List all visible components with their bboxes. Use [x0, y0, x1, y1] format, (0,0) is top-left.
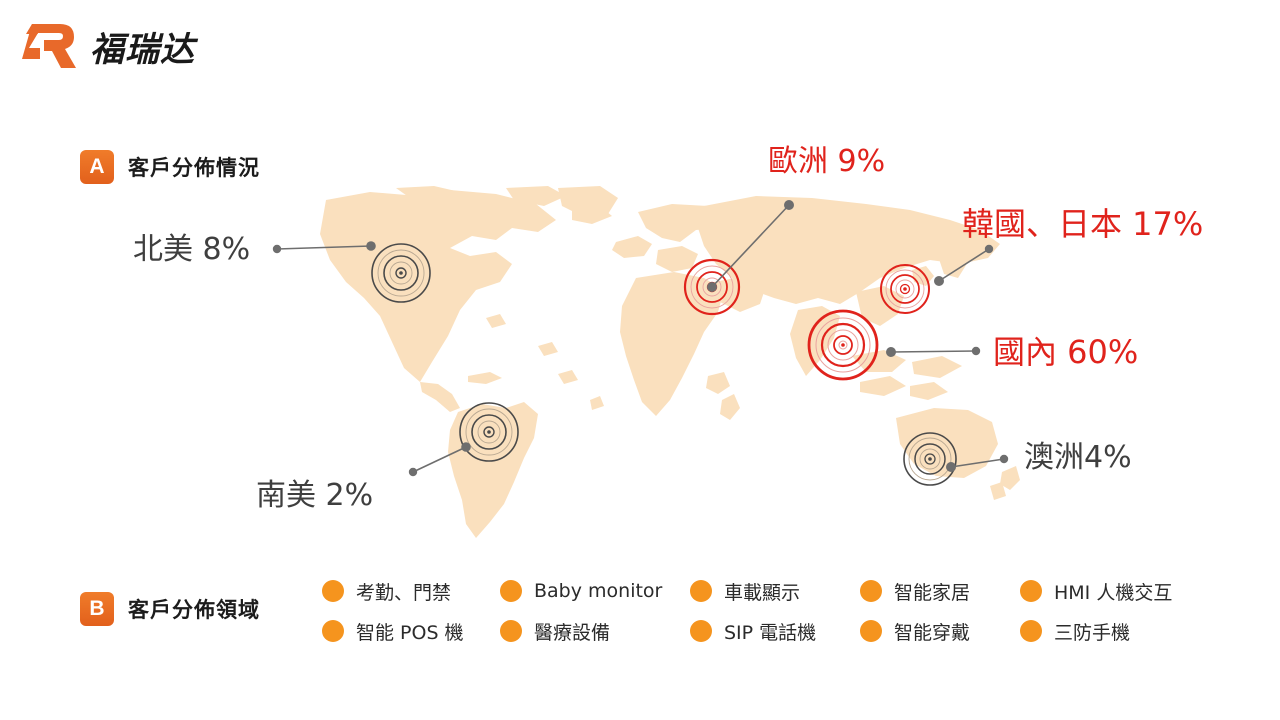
legend-item-label: SIP 電話機	[724, 618, 816, 645]
legend-item-label: 三防手機	[1054, 618, 1130, 645]
brand-name: 福瑞达	[90, 22, 195, 71]
bullet-dot-icon	[500, 620, 522, 642]
section-b-badge: B	[80, 592, 114, 626]
legend-item-label: 智能 POS 機	[356, 618, 464, 645]
legend-column: Baby monitor 醫療設備	[500, 576, 690, 646]
section-a-badge: A	[80, 150, 114, 184]
bullet-dot-icon	[500, 580, 522, 602]
map-label-north-america: 北美 8%	[133, 235, 250, 265]
bullet-dot-icon	[1020, 580, 1042, 602]
map-label-south-america: 南美 2%	[256, 481, 373, 511]
list-item[interactable]: Baby monitor	[500, 576, 690, 606]
bullet-dot-icon	[322, 620, 344, 642]
legend-column: 車載顯示 SIP 電話機	[690, 576, 860, 646]
list-item[interactable]: 智能 POS 機	[322, 616, 500, 646]
slide-root: 福瑞达 A 客戶分佈情況	[0, 0, 1280, 720]
legend-item-label: 考勤、門禁	[356, 578, 451, 605]
section-b-header: B 客戶分佈領域	[80, 592, 260, 626]
bullet-dot-icon	[860, 580, 882, 602]
bullet-dot-icon	[860, 620, 882, 642]
legend-item-label: HMI 人機交互	[1054, 578, 1172, 605]
section-a-title: 客戶分佈情況	[128, 152, 260, 182]
list-item[interactable]: 車載顯示	[690, 576, 860, 606]
list-item[interactable]: 三防手機	[1020, 616, 1200, 646]
map-landmasses	[320, 186, 1020, 538]
list-item[interactable]: 醫療設備	[500, 616, 690, 646]
list-item[interactable]: 智能穿戴	[860, 616, 1020, 646]
map-label-korea-japan: 韓國、日本 17%	[962, 208, 1203, 240]
legend-column: 智能家居 智能穿戴	[860, 576, 1020, 646]
legend-item-label: 智能家居	[894, 578, 970, 605]
fr-monogram-icon	[18, 20, 80, 72]
bullet-dot-icon	[322, 580, 344, 602]
section-b-title: 客戶分佈領域	[128, 594, 260, 624]
map-label-australia: 澳洲4%	[1024, 443, 1132, 473]
legend-item-label: 智能穿戴	[894, 618, 970, 645]
world-map	[300, 186, 1020, 546]
list-item[interactable]: SIP 電話機	[690, 616, 860, 646]
domain-legend: 考勤、門禁 智能 POS 機 Baby monitor 醫療設備 車載顯示	[322, 576, 1200, 646]
map-label-europe: 歐洲 9%	[768, 147, 885, 177]
bullet-dot-icon	[690, 620, 712, 642]
bullet-dot-icon	[1020, 620, 1042, 642]
list-item[interactable]: 考勤、門禁	[322, 576, 500, 606]
legend-item-label: 醫療設備	[534, 618, 610, 645]
section-a-header: A 客戶分佈情況	[80, 150, 260, 184]
list-item[interactable]: 智能家居	[860, 576, 1020, 606]
legend-column: 考勤、門禁 智能 POS 機	[322, 576, 500, 646]
map-label-china: 國內 60%	[993, 336, 1138, 368]
brand-logo: 福瑞达	[18, 20, 195, 72]
legend-column: HMI 人機交互 三防手機	[1020, 576, 1200, 646]
bullet-dot-icon	[690, 580, 712, 602]
list-item[interactable]: HMI 人機交互	[1020, 576, 1200, 606]
legend-item-label: Baby monitor	[534, 580, 662, 602]
legend-item-label: 車載顯示	[724, 578, 800, 605]
